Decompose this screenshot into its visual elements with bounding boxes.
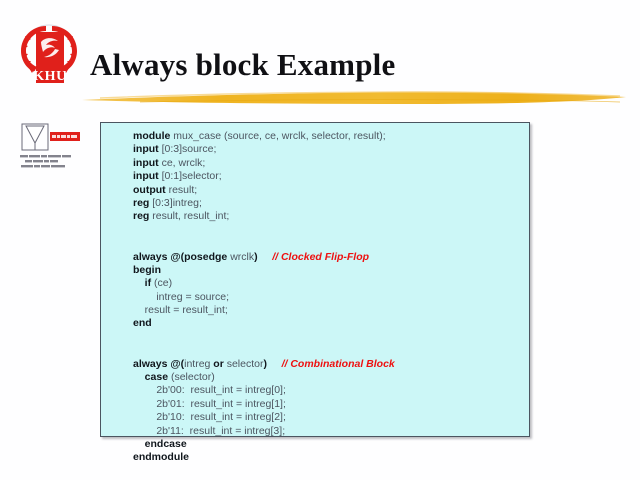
code-line: result = result_int;: [133, 304, 525, 317]
code-text: result, result_int;: [149, 210, 229, 222]
slide-canvas: KHU Always block Example: [0, 0, 640, 480]
code-text: intreg = source;: [156, 291, 229, 303]
code-line: reg [0:3]intreg;: [133, 197, 525, 210]
code-text: wrclk: [227, 251, 254, 263]
code-line: always @(posedge wrclk) // Clocked Flip-…: [133, 251, 525, 264]
code-keyword: input: [133, 170, 159, 182]
code-line: always @(intreg or selector) // Combinat…: [133, 358, 525, 371]
code-line: endcase: [133, 438, 525, 451]
code-text: (ce): [151, 277, 172, 289]
code-indent: [133, 398, 156, 410]
code-text: result = result_int;: [145, 304, 228, 316]
svg-text:KHU: KHU: [33, 69, 66, 84]
code-line: case (selector): [133, 371, 525, 384]
code-line: end: [133, 317, 525, 330]
title-brush-underline: [80, 86, 630, 110]
page-title: Always block Example: [90, 47, 395, 83]
code-line: 2b'01: result_int = intreg[1];: [133, 398, 525, 411]
code-text: 2b'10: result_int = intreg[2];: [156, 411, 286, 423]
code-text: selector: [224, 358, 264, 370]
code-line: input ce, wrclk;: [133, 157, 525, 170]
code-keyword: endmodule: [133, 451, 189, 463]
code-line: intreg = source;: [133, 291, 525, 304]
code-keyword: reg: [133, 210, 149, 222]
code-block: module mux_case (source, ce, wrclk, sele…: [100, 122, 530, 437]
code-indent: [133, 371, 145, 383]
code-keyword: endcase: [145, 438, 187, 450]
code-keyword: always @(: [133, 358, 184, 370]
code-text: result;: [166, 184, 198, 196]
code-keyword: output: [133, 184, 166, 196]
code-text: 2b'00: result_int = intreg[0];: [156, 384, 286, 396]
code-text: 2b'11: result_int = intreg[3];: [156, 425, 285, 437]
code-keyword: end: [133, 317, 152, 329]
khu-crest-icon: KHU: [16, 20, 84, 92]
code-indent: [133, 425, 156, 437]
code-comment: // Clocked Flip-Flop: [272, 251, 369, 263]
code-line: input [0:1]selector;: [133, 170, 525, 183]
code-text: [0:3]source;: [159, 143, 217, 155]
code-keyword: case: [145, 371, 168, 383]
code-indent: [133, 384, 156, 396]
code-text: [0:3]intreg;: [149, 197, 202, 209]
code-keyword: or: [213, 358, 224, 370]
code-line: endmodule: [133, 451, 525, 464]
code-line: if (ce): [133, 277, 525, 290]
code-keyword: always @(posedge: [133, 251, 227, 263]
code-indent: [133, 291, 156, 303]
code-line: begin: [133, 264, 525, 277]
code-line: 2b'10: result_int = intreg[2];: [133, 411, 525, 424]
code-line: [133, 224, 525, 237]
code-indent: [133, 411, 156, 423]
code-line: 2b'11: result_int = intreg[3];: [133, 425, 525, 438]
code-line: input [0:3]source;: [133, 143, 525, 156]
code-indent: [133, 304, 145, 316]
code-text: mux_case (source, ce, wrclk, selector, r…: [170, 130, 385, 142]
code-line: output result;: [133, 184, 525, 197]
code-keyword: input: [133, 157, 159, 169]
code-keyword: begin: [133, 264, 161, 276]
code-text: [267, 358, 282, 370]
department-logo-icon: [14, 121, 90, 177]
code-line: reg result, result_int;: [133, 210, 525, 223]
code-keyword: module: [133, 130, 170, 142]
code-line: [133, 237, 525, 250]
code-text: [258, 251, 273, 263]
code-text: [0:1]selector;: [159, 170, 222, 182]
code-text: ce, wrclk;: [159, 157, 206, 169]
code-text: (selector): [168, 371, 215, 383]
code-line: [133, 331, 525, 344]
code-comment: // Combinational Block: [282, 358, 395, 370]
code-line: [133, 344, 525, 357]
code-indent: [133, 438, 145, 450]
code-text: 2b'01: result_int = intreg[1];: [156, 398, 286, 410]
code-keyword: input: [133, 143, 159, 155]
code-indent: [133, 277, 145, 289]
code-listing: module mux_case (source, ce, wrclk, sele…: [133, 130, 525, 465]
code-line: module mux_case (source, ce, wrclk, sele…: [133, 130, 525, 143]
code-text: intreg: [184, 358, 213, 370]
code-keyword: reg: [133, 197, 149, 209]
code-line: 2b'00: result_int = intreg[0];: [133, 384, 525, 397]
